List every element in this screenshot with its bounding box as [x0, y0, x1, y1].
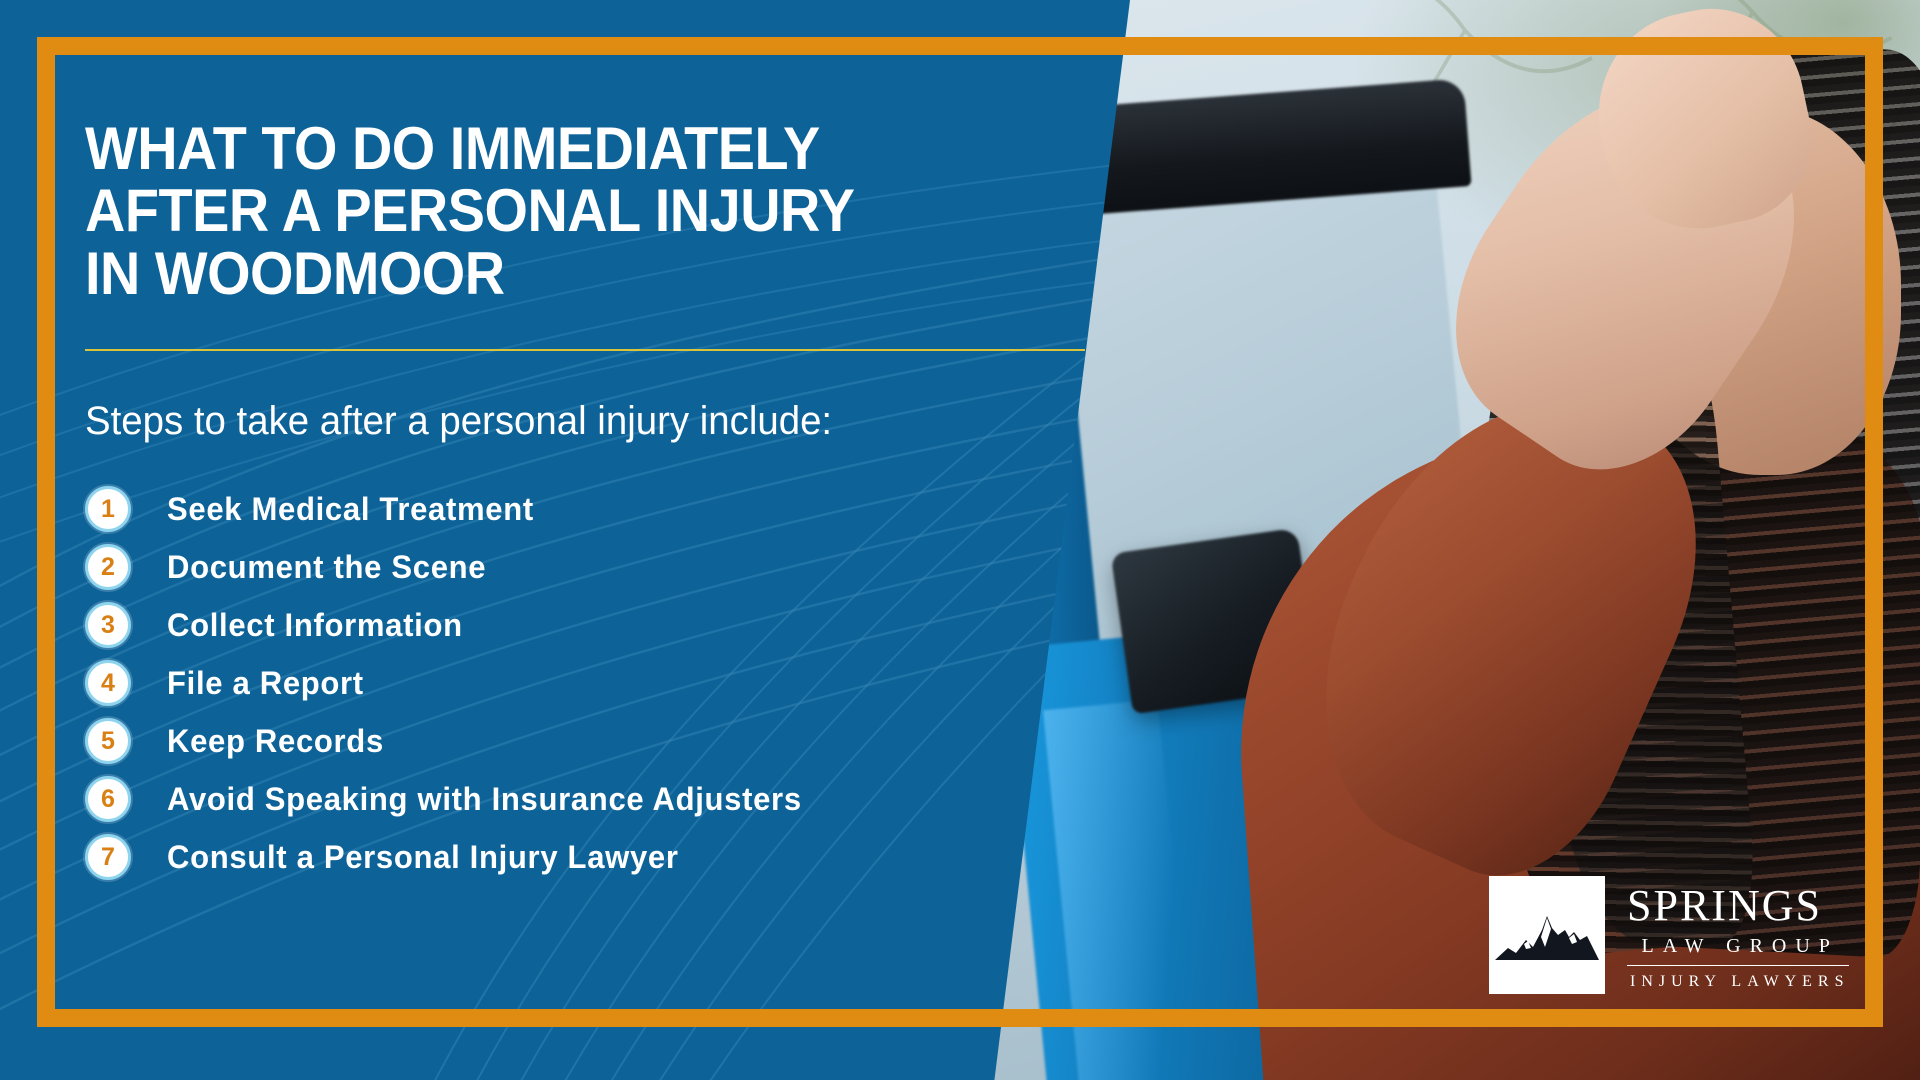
- logo-primary-text: SPRINGS: [1627, 884, 1849, 928]
- logo-mark-tile: [1489, 876, 1605, 994]
- list-item: 5 Keep Records: [85, 719, 915, 763]
- promotional-graphic: WHAT TO DO IMMEDIATELY AFTER A PERSONAL …: [0, 0, 1920, 1080]
- step-label: File a Report: [167, 665, 364, 702]
- step-number-badge: 1: [85, 486, 131, 532]
- logo-secondary-text: LAW GROUP: [1627, 936, 1849, 956]
- list-item: 2 Document the Scene: [85, 545, 915, 589]
- step-number-badge: 4: [85, 660, 131, 706]
- step-label: Document the Scene: [167, 549, 486, 586]
- list-item: 1 Seek Medical Treatment: [85, 487, 915, 531]
- step-number-badge: 5: [85, 718, 131, 764]
- headline-line-2: AFTER A PERSONAL INJURY: [85, 177, 855, 244]
- title-divider: [85, 349, 1085, 351]
- step-label: Avoid Speaking with Insurance Adjusters: [167, 781, 802, 818]
- steps-list: 1 Seek Medical Treatment 2 Document the …: [85, 487, 915, 879]
- page-title: WHAT TO DO IMMEDIATELY AFTER A PERSONAL …: [85, 118, 857, 305]
- headline-line-1: WHAT TO DO IMMEDIATELY: [85, 115, 820, 182]
- step-number-badge: 2: [85, 544, 131, 590]
- mountain-range-icon: [1495, 904, 1599, 966]
- list-item: 7 Consult a Personal Injury Lawyer: [85, 835, 915, 879]
- springs-law-group-logo[interactable]: SPRINGS LAW GROUP INJURY LAWYERS: [1489, 876, 1849, 998]
- headline-line-3: IN WOODMOOR: [85, 240, 505, 307]
- step-number-badge: 7: [85, 834, 131, 880]
- subheading: Steps to take after a personal injury in…: [85, 397, 882, 445]
- logo-wordmark: SPRINGS LAW GROUP INJURY LAWYERS: [1627, 876, 1849, 998]
- step-label: Seek Medical Treatment: [167, 491, 534, 528]
- list-item: 3 Collect Information: [85, 603, 915, 647]
- list-item: 6 Avoid Speaking with Insurance Adjuster…: [85, 777, 915, 821]
- logo-divider: [1627, 965, 1849, 966]
- logo-tertiary-text: INJURY LAWYERS: [1627, 974, 1849, 990]
- step-label: Keep Records: [167, 723, 384, 760]
- step-label: Consult a Personal Injury Lawyer: [167, 839, 679, 876]
- step-label: Collect Information: [167, 607, 463, 644]
- list-item: 4 File a Report: [85, 661, 915, 705]
- text-content-block: WHAT TO DO IMMEDIATELY AFTER A PERSONAL …: [85, 118, 915, 893]
- step-number-badge: 3: [85, 602, 131, 648]
- step-number-badge: 6: [85, 776, 131, 822]
